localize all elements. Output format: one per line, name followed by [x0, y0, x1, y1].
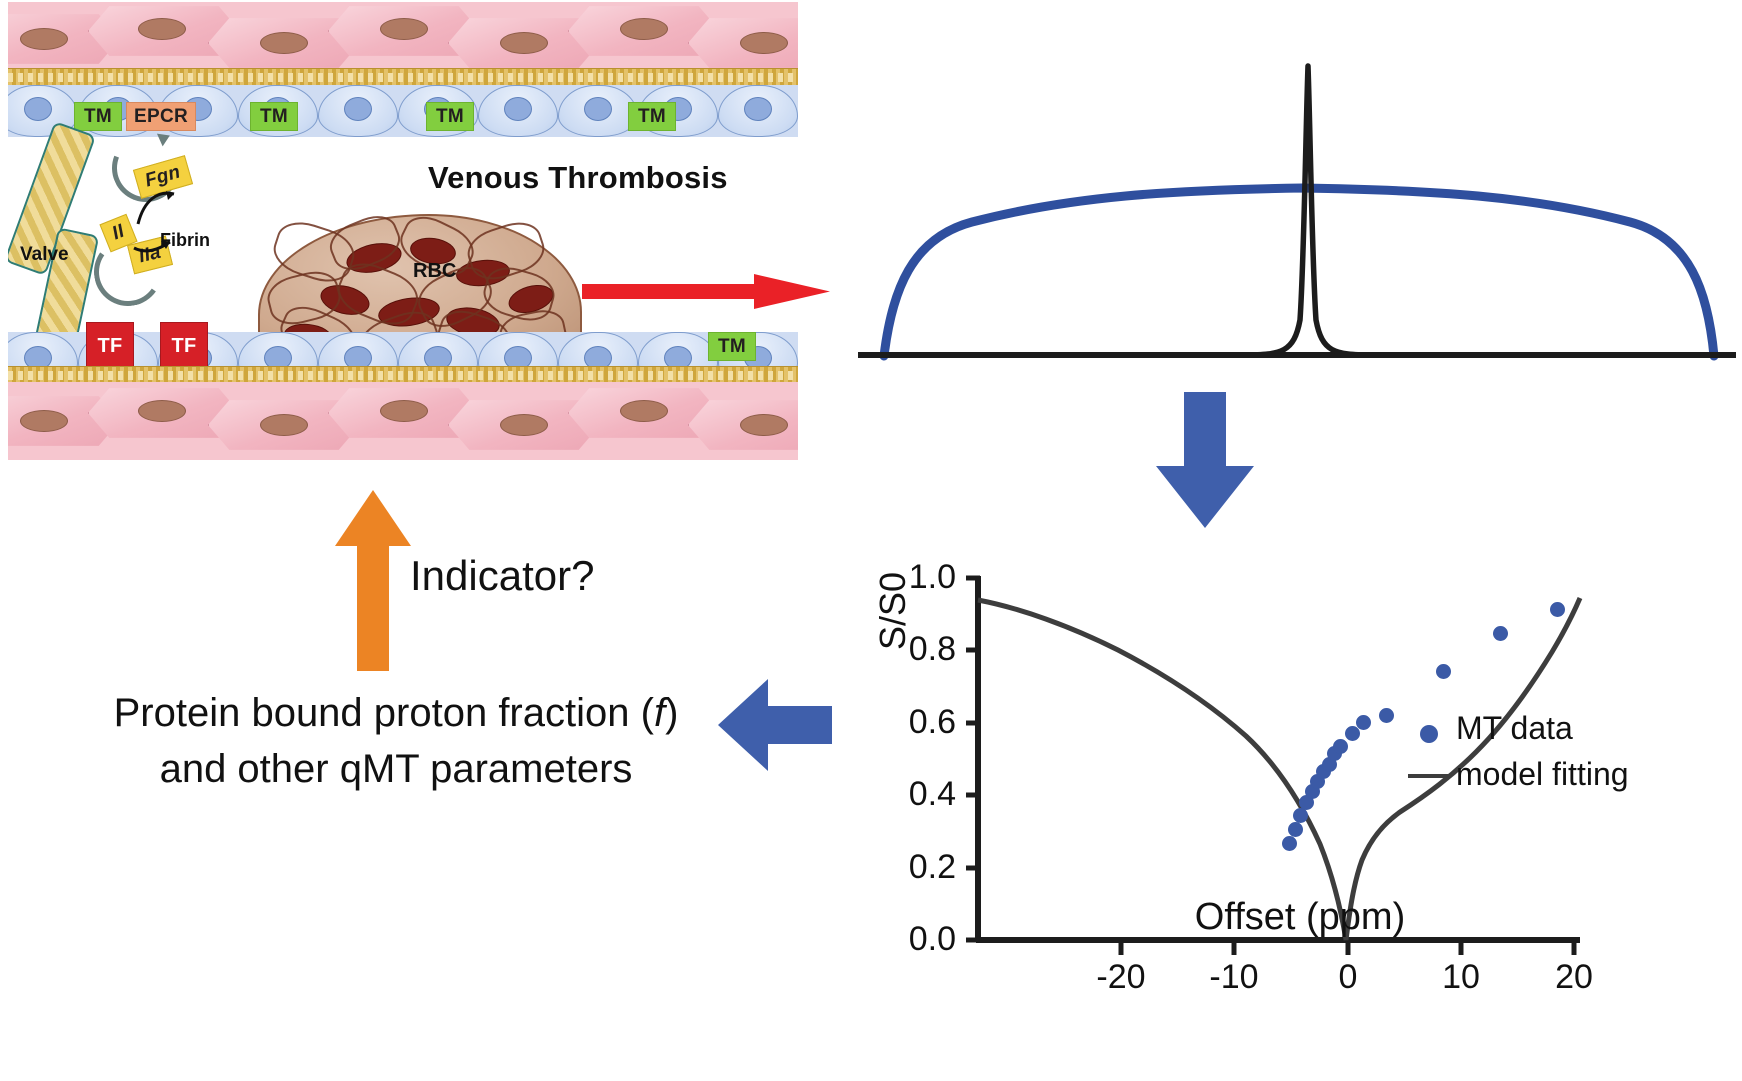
z-spectrum-chart: 1.0 0.8 0.6 0.4 0.2 0.0 -20 -10 0 10 20 …: [880, 500, 1742, 1081]
mt-spectrum-svg: [852, 0, 1742, 400]
chip-tm-3: TM: [426, 102, 474, 131]
protein-bound-protons-label: Protein-bound protons: [1724, 158, 1742, 246]
conclusion-line1: Protein bound proton fraction (f): [16, 685, 776, 741]
conclusion-line1-prefix: Protein bound proton fraction (: [114, 691, 654, 735]
mt-data-point: [1288, 822, 1303, 837]
protein-bound-line1: Protein-bound: [1724, 158, 1742, 202]
reaction-arrows: [128, 180, 208, 260]
chip-epcr: EPCR: [126, 102, 196, 131]
chip-tm-5: TM: [708, 332, 756, 361]
chip-tf-1: TF: [86, 322, 134, 370]
chip-tm-2: TM: [250, 102, 298, 131]
mt-data-point: [1550, 602, 1565, 617]
mt-data-point: [1493, 626, 1508, 641]
rbc-label: RBC: [413, 260, 456, 283]
venous-thrombosis-diagram: TM EPCR TM TM TM Valve Fgn II IIa Fibrin: [8, 2, 798, 460]
red-arrow-right: [582, 272, 832, 310]
mt-data-point: [1282, 836, 1297, 851]
bio-panel-title: Venous Thrombosis: [428, 160, 728, 196]
indicator-label: Indicator?: [410, 552, 594, 600]
chip-tm-4: TM: [628, 102, 676, 131]
mt-data-point: [1379, 708, 1394, 723]
conclusion-line1-suffix: ): [665, 691, 678, 735]
protein-bound-line2: protons: [1724, 202, 1742, 246]
conclusion-line2: and other qMT parameters: [16, 741, 776, 797]
water-peak-curve: [1244, 66, 1372, 355]
mt-spectrum-panel: water Protein-bound protons RF pulse: [852, 0, 1742, 400]
mt-data-point: [1333, 739, 1348, 754]
mt-data-points: [880, 500, 1742, 970]
orange-arrow-up: [333, 488, 413, 673]
chip-tm-1: TM: [74, 102, 122, 131]
valve-label: Valve: [20, 244, 69, 266]
conclusion-text: Protein bound proton fraction (f) and ot…: [16, 685, 776, 797]
chip-tf-2: TF: [160, 322, 208, 370]
tissue-band-bottom: [8, 382, 798, 460]
mt-data-point: [1293, 808, 1308, 823]
mt-data-point: [1356, 715, 1371, 730]
conclusion-line1-italic-f: f: [654, 691, 665, 735]
mt-data-point: [1436, 664, 1451, 679]
